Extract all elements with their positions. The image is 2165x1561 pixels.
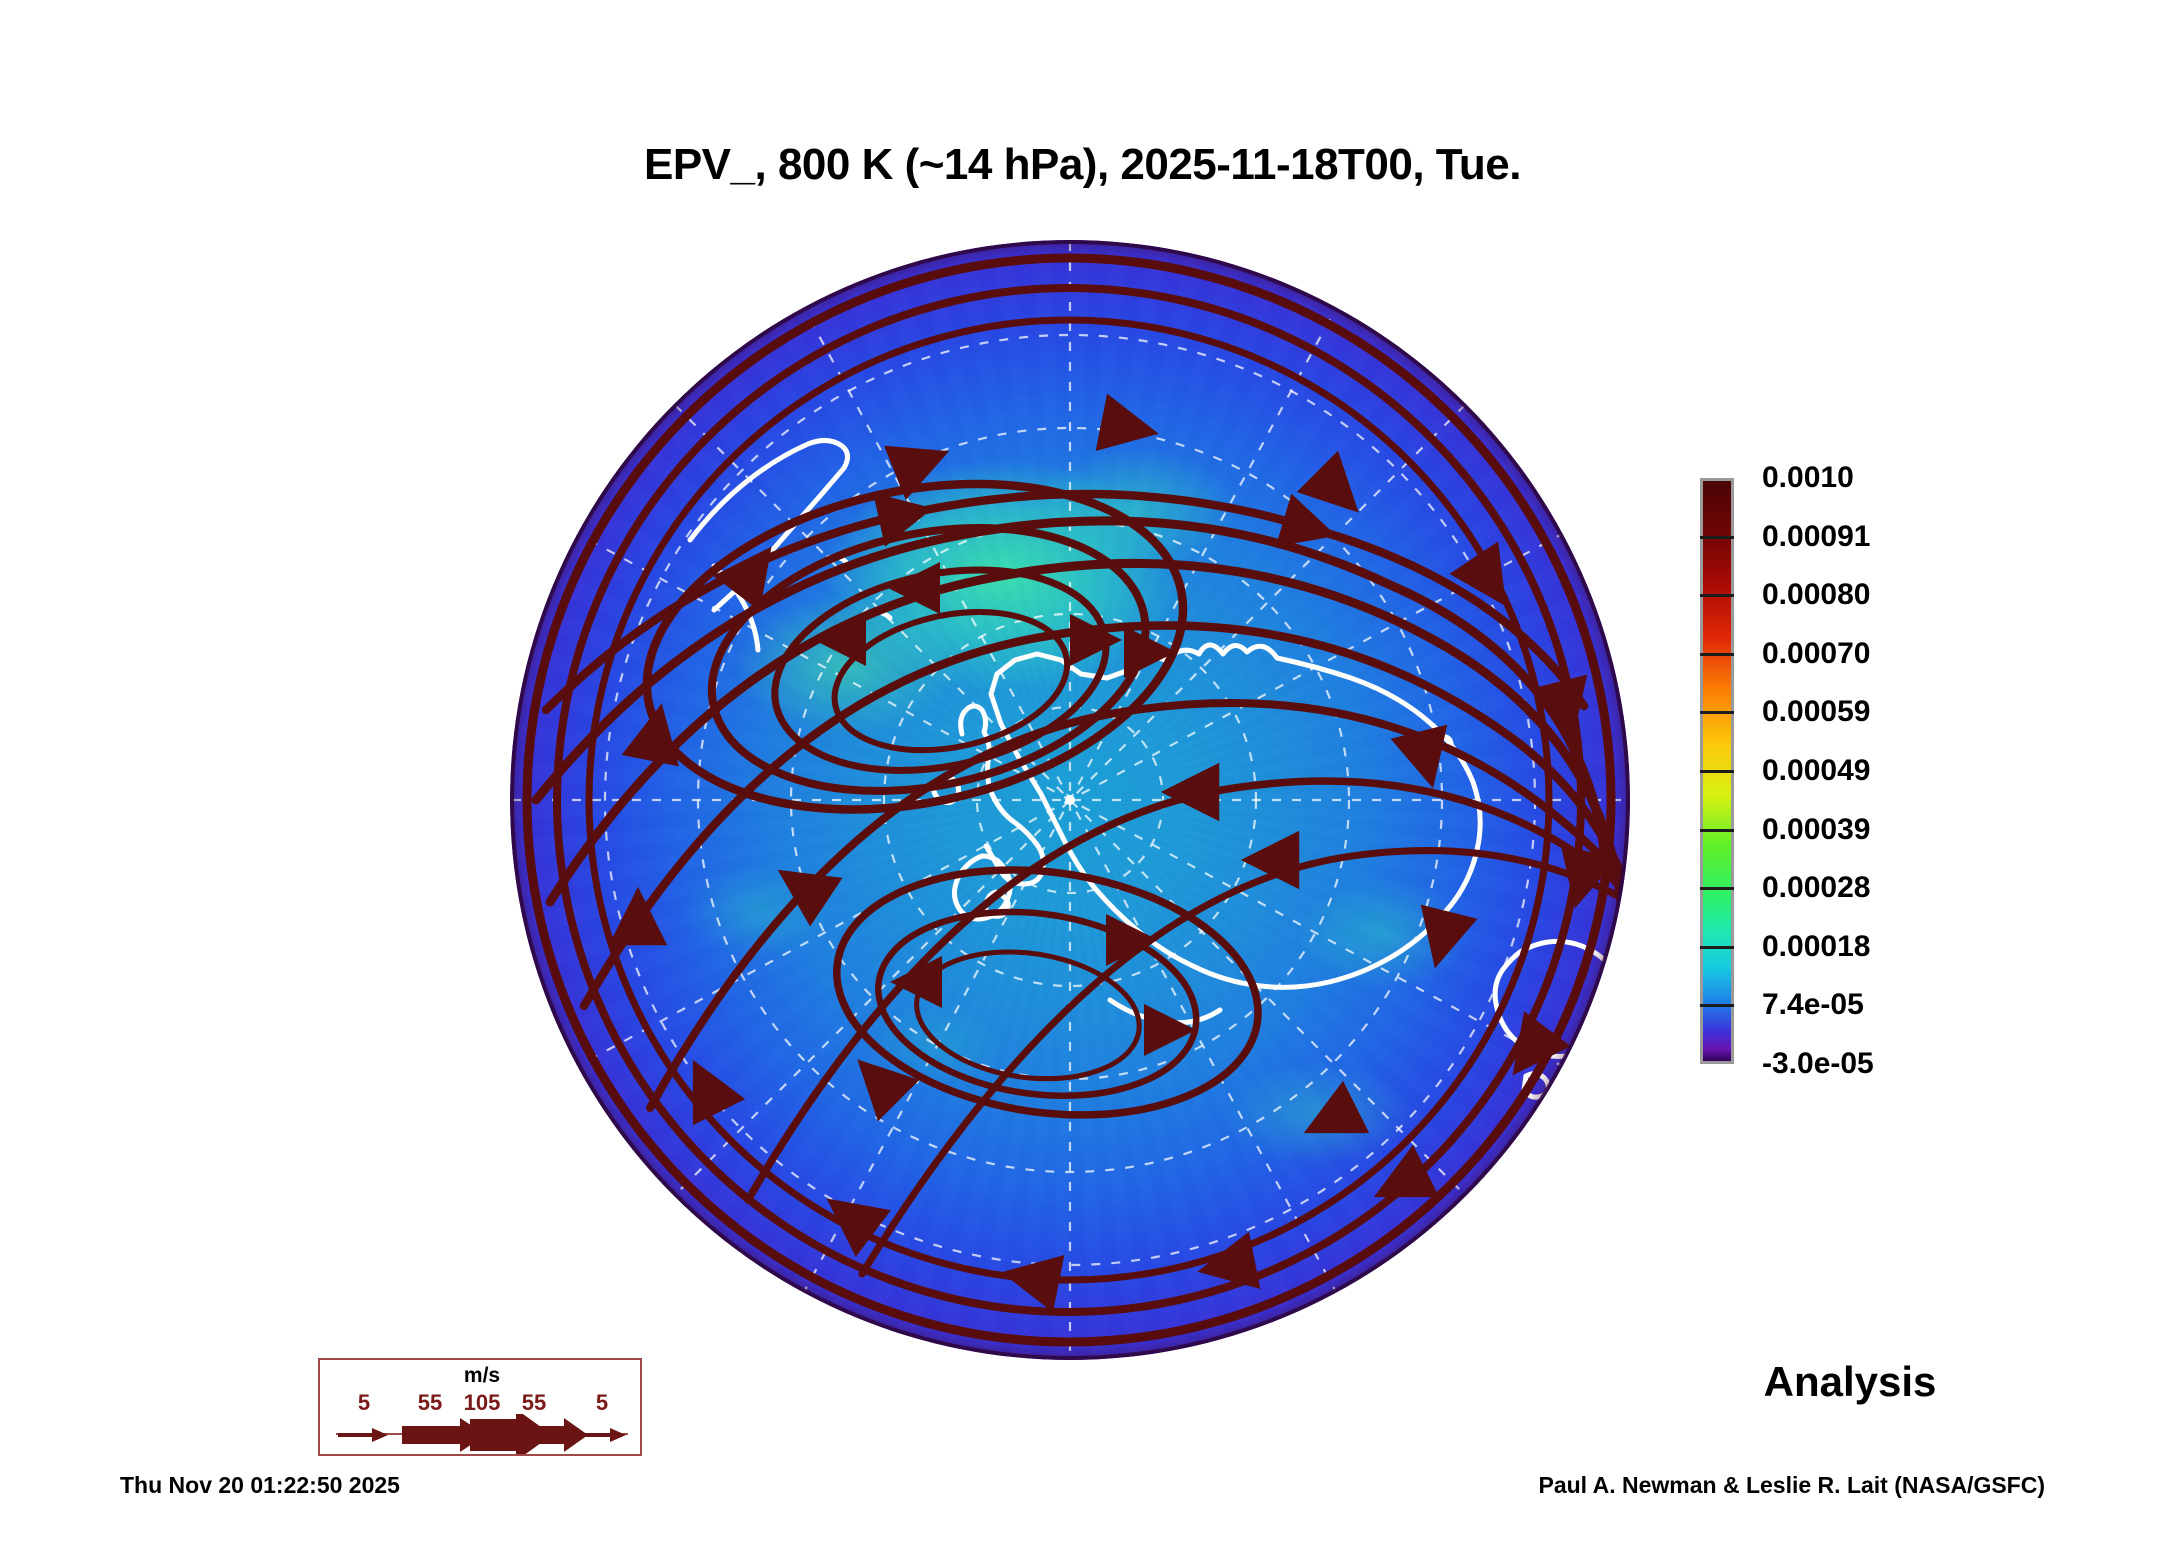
colorbar-tick-label: 7.4e-05 xyxy=(1762,990,1864,1020)
colorbar-tick xyxy=(1700,594,1734,597)
colorbar-tick xyxy=(1700,711,1734,714)
globe-disc xyxy=(510,240,1630,1360)
colorbar-tick-label: 0.00080 xyxy=(1762,580,1870,610)
analysis-label: Analysis xyxy=(1700,1358,2000,1406)
colorbar-tick-label: -3.0e-05 xyxy=(1762,1049,1874,1079)
wind-legend-tick-label: 105 xyxy=(464,1390,501,1416)
attribution: Paul A. Newman & Leslie R. Lait (NASA/GS… xyxy=(1538,1472,2045,1499)
globe-rim-speckle xyxy=(510,240,1630,1360)
colorbar-tick xyxy=(1700,536,1734,539)
wind-legend-tick-label: 55 xyxy=(522,1390,546,1416)
colorbar-tick xyxy=(1700,946,1734,949)
wind-legend-tick-label: 5 xyxy=(358,1390,370,1416)
colorbar-tick xyxy=(1700,653,1734,656)
wind-legend-tick-label: 55 xyxy=(418,1390,442,1416)
wind-legend-tick-label: 5 xyxy=(596,1390,608,1416)
colorbar-tick xyxy=(1700,1004,1734,1007)
render-timestamp: Thu Nov 20 01:22:50 2025 xyxy=(120,1472,400,1499)
wind-legend-arrow xyxy=(320,1414,644,1454)
colorbar-tick-label: 0.00091 xyxy=(1762,522,1870,552)
colorbar-tick-label: 0.00039 xyxy=(1762,815,1870,845)
colorbar-tick-label: 0.00070 xyxy=(1762,639,1870,669)
colorbar-tick-label: 0.00028 xyxy=(1762,873,1870,903)
page-title: EPV_, 800 K (~14 hPa), 2025-11-18T00, Tu… xyxy=(0,140,2165,190)
colorbar-tick xyxy=(1700,829,1734,832)
colorbar-tick-label: 0.00049 xyxy=(1762,756,1870,786)
wind-legend-unit: m/s xyxy=(320,1364,644,1388)
wind-speed-legend: m/s 555105555 xyxy=(318,1358,642,1456)
colorbar-tick xyxy=(1700,770,1734,773)
colorbar-tick-label: 0.00018 xyxy=(1762,932,1870,962)
colorbar-tick-label: 0.00059 xyxy=(1762,697,1870,727)
polar-map-panel xyxy=(510,240,1630,1360)
colorbar-tick-label: 0.0010 xyxy=(1762,463,1854,493)
colorbar-tick xyxy=(1700,887,1734,890)
